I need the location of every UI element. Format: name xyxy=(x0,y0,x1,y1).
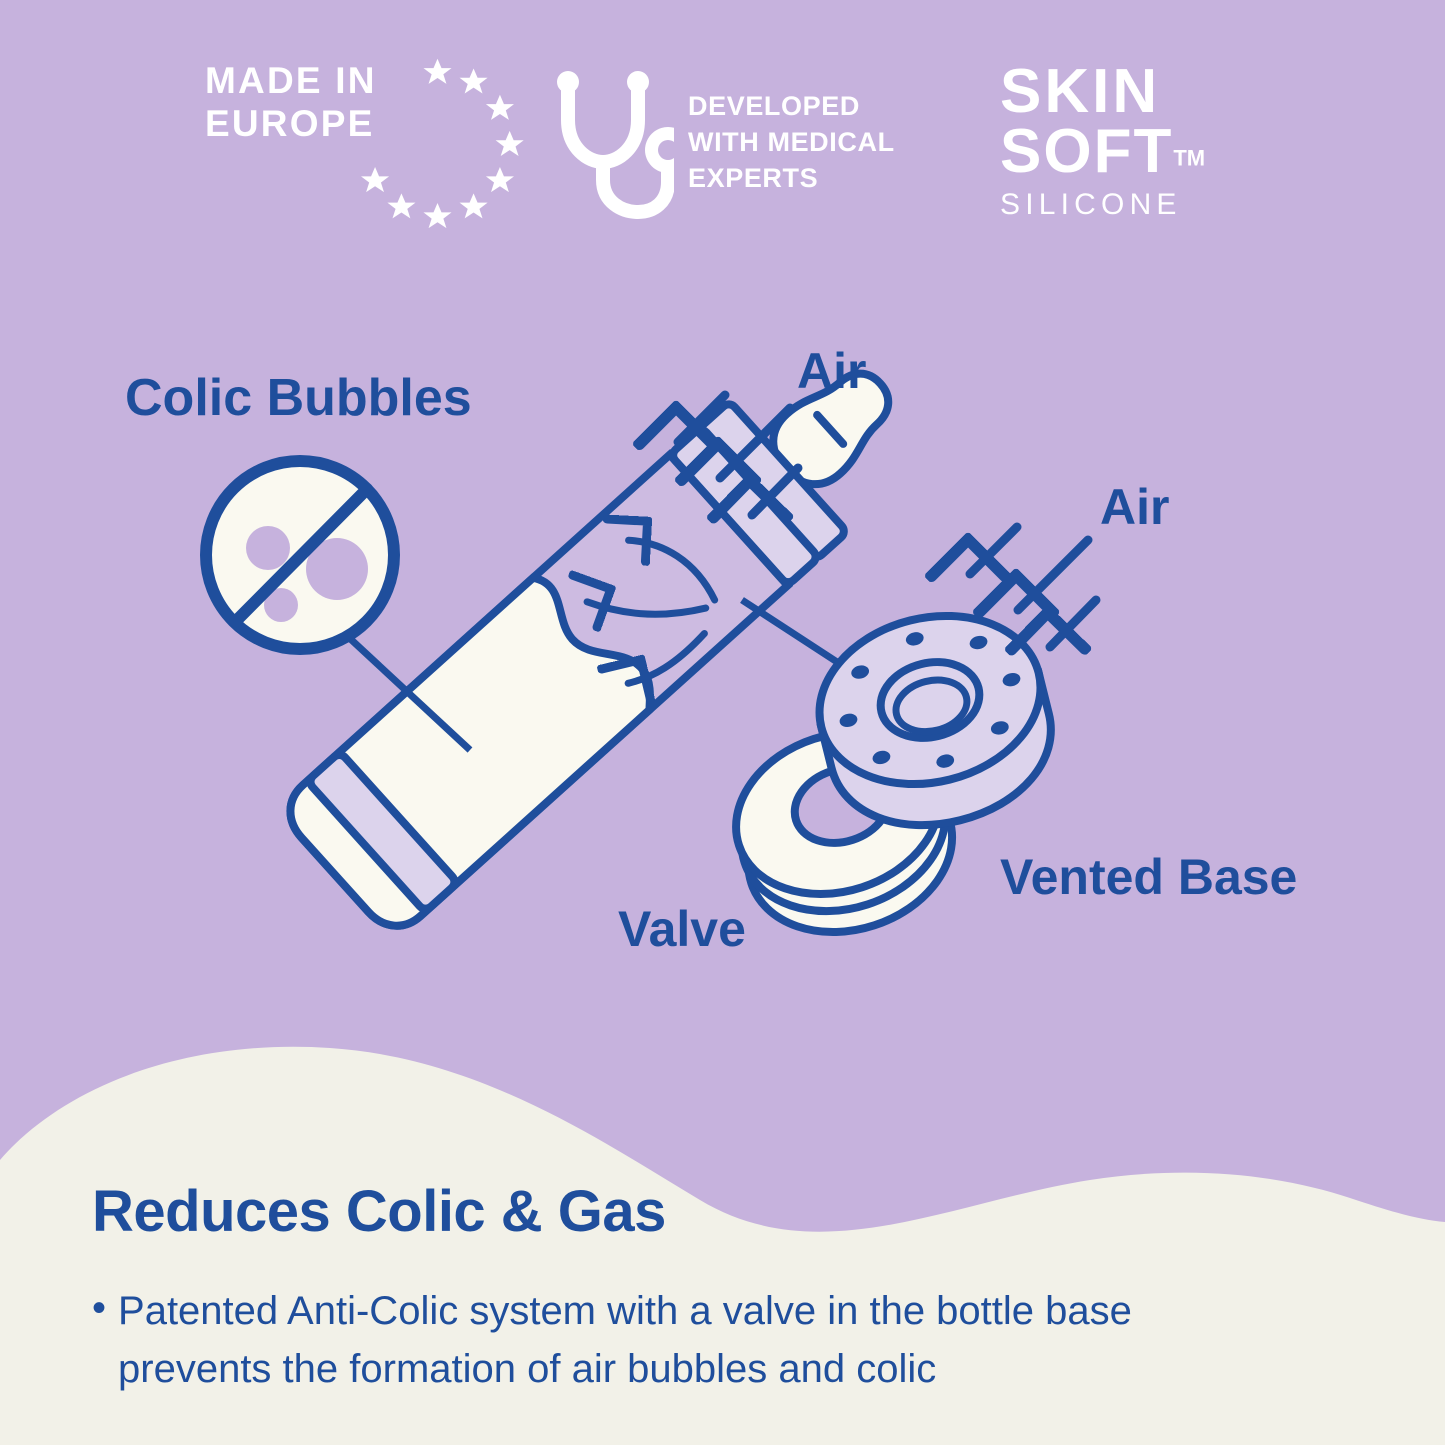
bullet-copy: Patented Anti-Colic system with a valve … xyxy=(118,1282,1263,1398)
label-colic-bubbles: Colic Bubbles xyxy=(125,368,472,428)
label-vented-base: Vented Base xyxy=(1000,848,1297,906)
infographic-page: MADE IN EUROPE xyxy=(0,0,1445,1445)
bottom-copy-text: Reduces Colic & Gas • Patented Anti-Coli… xyxy=(0,1030,1445,1445)
label-air-vented-base: Air xyxy=(1100,478,1169,536)
section-heading: Reduces Colic & Gas xyxy=(92,1178,666,1245)
bullet-marker: • xyxy=(92,1282,106,1334)
label-air-bottle: Air xyxy=(797,342,866,400)
colic-bubble-1 xyxy=(246,526,290,570)
feature-bullet: • Patented Anti-Colic system with a valv… xyxy=(92,1282,1292,1398)
label-valve: Valve xyxy=(618,900,746,958)
bottom-copy-panel: Reduces Colic & Gas • Patented Anti-Coli… xyxy=(0,1030,1445,1445)
